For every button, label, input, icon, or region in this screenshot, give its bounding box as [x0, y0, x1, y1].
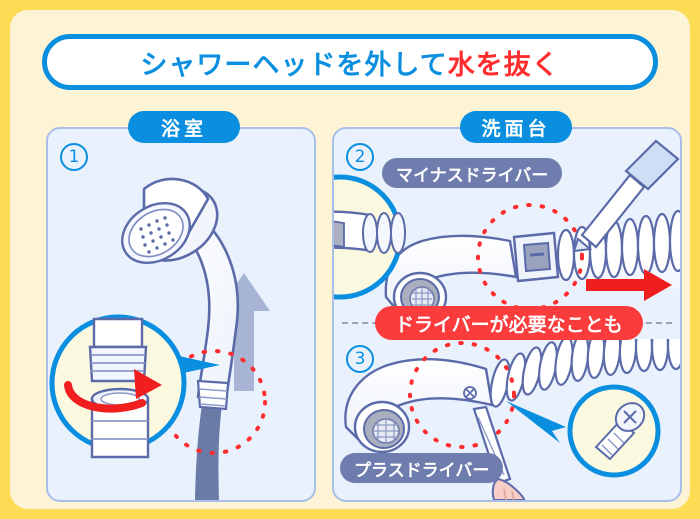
inset-unscrew-detail: [46, 303, 198, 463]
tag-phillips-screwdriver: プラスドライバー: [340, 453, 503, 483]
step-number-1: 1: [60, 143, 88, 171]
page-title-highlight: 水を抜く: [448, 50, 560, 81]
step-number-3-label: 3: [355, 349, 366, 369]
tag-flathead-screwdriver-label: マイナスドライバー: [396, 161, 548, 186]
tag-phillips-screwdriver-label: プラスドライバー: [354, 456, 489, 481]
section-header-bathroom-label: 浴室: [161, 114, 207, 141]
panel-step-1: 1: [46, 127, 316, 502]
step-number-1-label: 1: [69, 147, 80, 167]
faucet-aerator-3: [355, 402, 409, 452]
screw-marker: [464, 387, 476, 399]
hose-joint: [198, 381, 228, 409]
page-title-text: シャワーヘッドを外して水を抜く: [140, 43, 559, 82]
section-header-washstand-label: 洗面台: [481, 114, 550, 141]
page-title: シャワーヘッドを外して水を抜く: [42, 34, 658, 90]
notice-driver-needed: ドライバーが必要なことも: [375, 306, 643, 340]
inset-screw-closeup: [570, 387, 658, 475]
page-title-prefix: シャワーヘッドを外して: [140, 50, 447, 81]
step-number-3: 3: [346, 345, 374, 373]
step-number-2: 2: [346, 143, 374, 171]
section-header-washstand: 洗面台: [460, 111, 572, 143]
notice-driver-needed-label: ドライバーが必要なことも: [395, 310, 623, 337]
hose-connector-block: [514, 233, 558, 281]
pointer-arrow-step3: [506, 401, 566, 443]
inset-faucet-closeup: [332, 171, 406, 303]
step-number-2-label: 2: [355, 147, 366, 167]
section-header-bathroom: 浴室: [128, 111, 240, 143]
page-frame: シャワーヘッドを外して水を抜く 浴室 洗面台: [10, 10, 690, 509]
tag-flathead-screwdriver: マイナスドライバー: [382, 158, 562, 188]
